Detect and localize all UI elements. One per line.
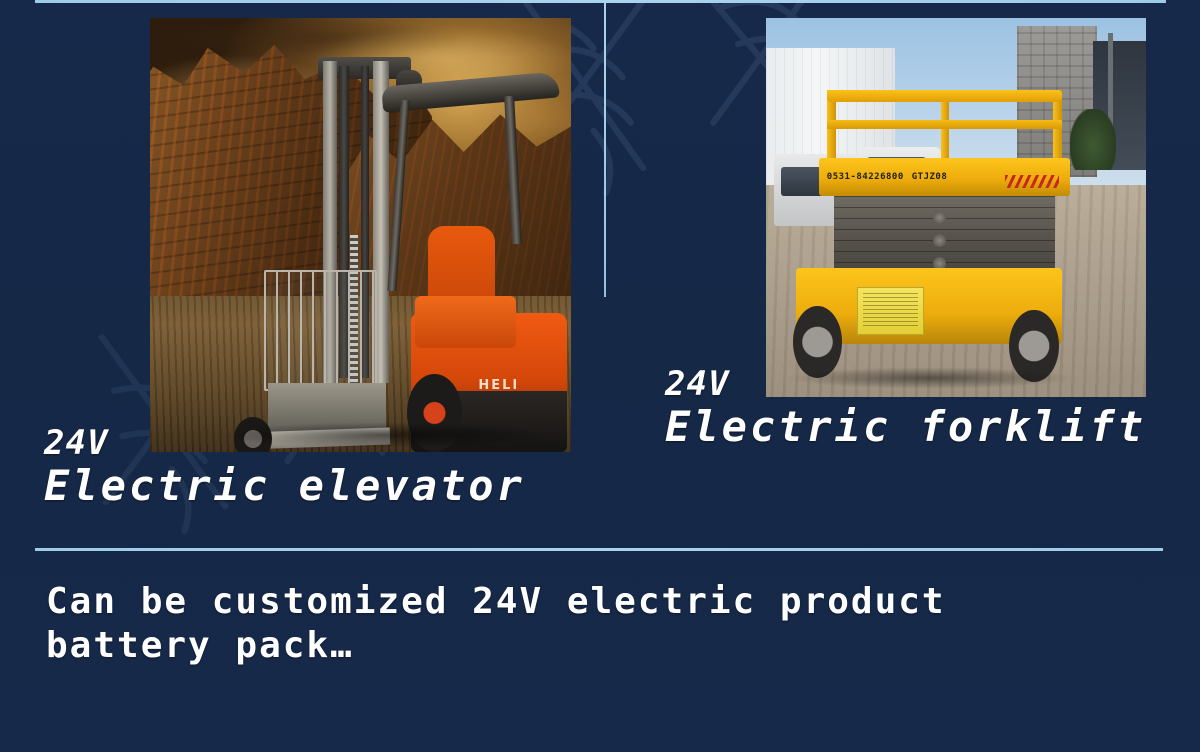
middle-divider-rule <box>35 548 1163 551</box>
caption-right-voltage: 24V <box>665 365 1146 403</box>
caption-left-voltage: 24V <box>44 424 525 462</box>
caption-right-title: Electric forklift <box>665 403 1146 450</box>
lift-guardrail-mid <box>827 120 1063 129</box>
yard-tree <box>1070 109 1116 170</box>
footer-line-2: battery pack… <box>46 624 1106 668</box>
product-photo-electric-forklift: 0531-84226800 GTJZ08 <box>766 18 1146 397</box>
vertical-divider-rule <box>604 0 606 297</box>
lift-guardrail-top <box>827 90 1063 102</box>
footer-line-1: Can be customized 24V electric product <box>46 580 1106 624</box>
lift-phone-number: 0531-84226800 <box>827 172 904 182</box>
footer-message: Can be customized 24V electric product b… <box>46 580 1106 668</box>
forklift-load-backrest <box>264 270 377 391</box>
forklift-brand-badge: HELI <box>478 378 519 393</box>
lift-model-number: GTJZ08 <box>912 172 948 182</box>
lift-red-stripe-decal <box>1005 175 1058 188</box>
forklift-seat-base <box>415 296 516 348</box>
caption-electric-elevator: 24V Electric elevator <box>44 424 525 509</box>
caption-electric-forklift: 24V Electric forklift <box>665 365 1146 450</box>
promo-banner: HELI 0531-84226800 GTJZ08 <box>0 0 1200 752</box>
top-divider-rule <box>35 0 1166 3</box>
lift-pivot-pin-2 <box>933 234 946 247</box>
product-photo-electric-elevator: HELI <box>150 18 571 452</box>
caption-left-title: Electric elevator <box>44 462 525 509</box>
lift-warning-decal <box>857 287 924 334</box>
